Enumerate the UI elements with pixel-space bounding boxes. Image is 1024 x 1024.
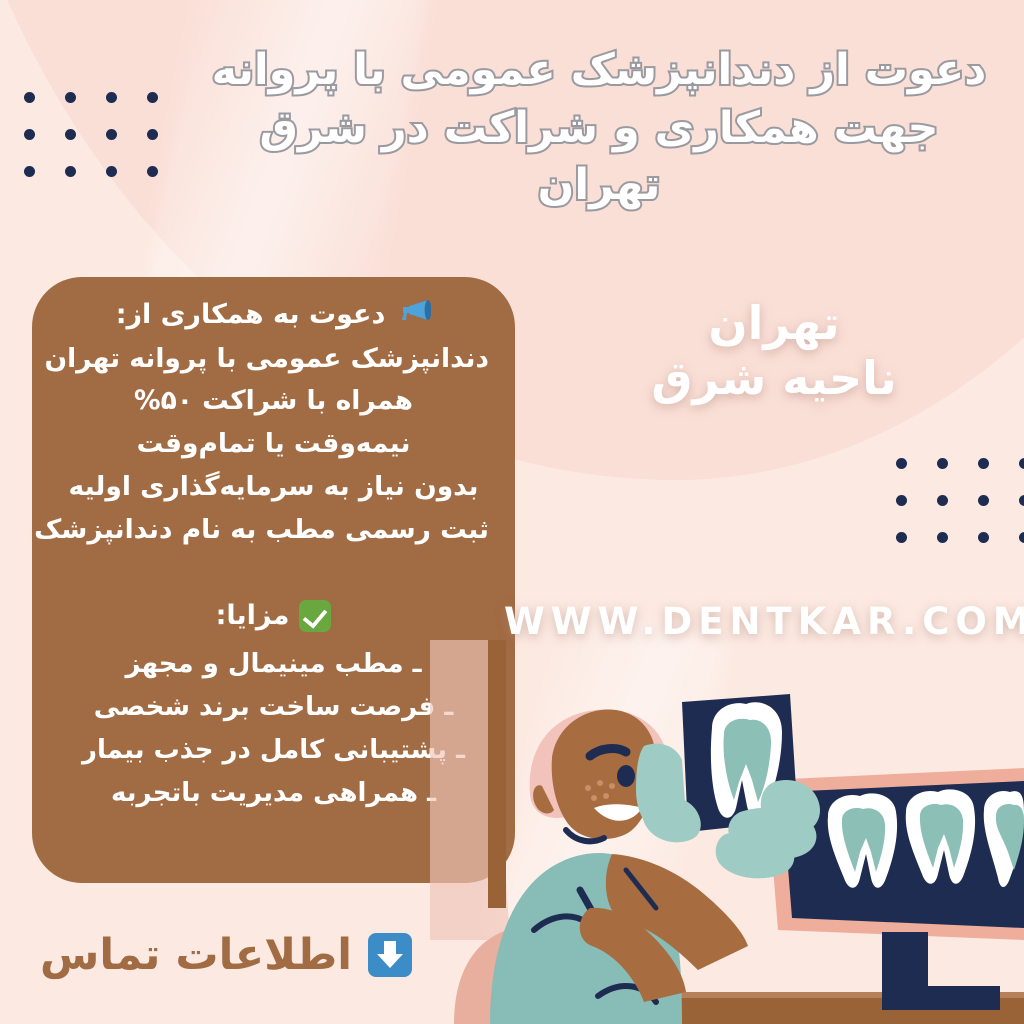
down-arrow-icon <box>368 933 412 977</box>
dot <box>978 532 989 543</box>
dentist-illustration <box>430 640 1024 1024</box>
dot <box>106 129 117 140</box>
dot <box>1019 495 1024 506</box>
dot <box>978 495 989 506</box>
benefit-item: ـ پشتیبانی کامل در جذب بیمار <box>58 729 489 772</box>
dot <box>896 495 907 506</box>
benefits-heading-row: مزایا: <box>58 596 489 637</box>
invite-line: دندانپزشک عمومی با پروانه تهران <box>58 338 489 381</box>
dot <box>65 92 76 103</box>
dot <box>106 92 117 103</box>
invite-line: ثبت رسمی مطب به نام دندانپزشک <box>58 509 489 552</box>
website-url: WWW.DENTKAR.COM <box>504 600 1004 643</box>
decorative-dot-grid-top-left <box>24 92 158 177</box>
poster-headline: دعوت از دندانپزشک عمومی با پروانه جهت هم… <box>194 42 1004 215</box>
dot <box>65 129 76 140</box>
benefit-item: ـ مطب مینیمال و مجهز <box>58 643 489 686</box>
dot <box>65 166 76 177</box>
dot <box>24 166 35 177</box>
decorative-dot-grid-mid-right <box>896 458 1024 543</box>
dot <box>24 129 35 140</box>
benefit-item: ـ فرصت ساخت برند شخصی <box>58 686 489 729</box>
dot <box>147 129 158 140</box>
contact-label: اطلاعات تماس <box>40 930 352 980</box>
poster-canvas: دعوت از دندانپزشک عمومی با پروانه جهت هم… <box>0 0 1024 1024</box>
invite-heading-text: دعوت به همکاری از: <box>116 295 386 336</box>
region-city: تهران <box>564 296 984 350</box>
invite-line: همراه با شراکت ۵۰% <box>58 380 489 423</box>
region-district: ناحیه شرق <box>564 350 984 408</box>
invite-line: نیمه‌وقت یا تمام‌وقت <box>58 423 489 466</box>
check-mark-icon <box>299 600 331 632</box>
dot <box>24 92 35 103</box>
benefit-item: ـ همراهی مدیریت باتجربه <box>58 772 489 815</box>
dot <box>937 532 948 543</box>
benefits-heading-text: مزایا: <box>216 596 290 637</box>
dot <box>1019 532 1024 543</box>
invite-line: بدون نیاز به سرمایه‌گذاری اولیه <box>58 466 489 509</box>
headline-line-2: جهت همکاری و شراکت در شرق تهران <box>194 100 1004 215</box>
dot <box>147 92 158 103</box>
headline-line-1: دعوت از دندانپزشک عمومی با پروانه <box>194 42 1004 100</box>
contact-info-row[interactable]: اطلاعات تماس <box>40 930 412 980</box>
dot <box>896 458 907 469</box>
dot <box>147 166 158 177</box>
invite-heading-row: دعوت به همکاری از: <box>58 295 489 336</box>
dot <box>937 458 948 469</box>
dot <box>978 458 989 469</box>
dot <box>1019 458 1024 469</box>
region-heading: تهران ناحیه شرق <box>564 296 984 408</box>
dot <box>937 495 948 506</box>
dot <box>106 166 117 177</box>
dot <box>896 532 907 543</box>
megaphone-icon <box>395 295 431 336</box>
